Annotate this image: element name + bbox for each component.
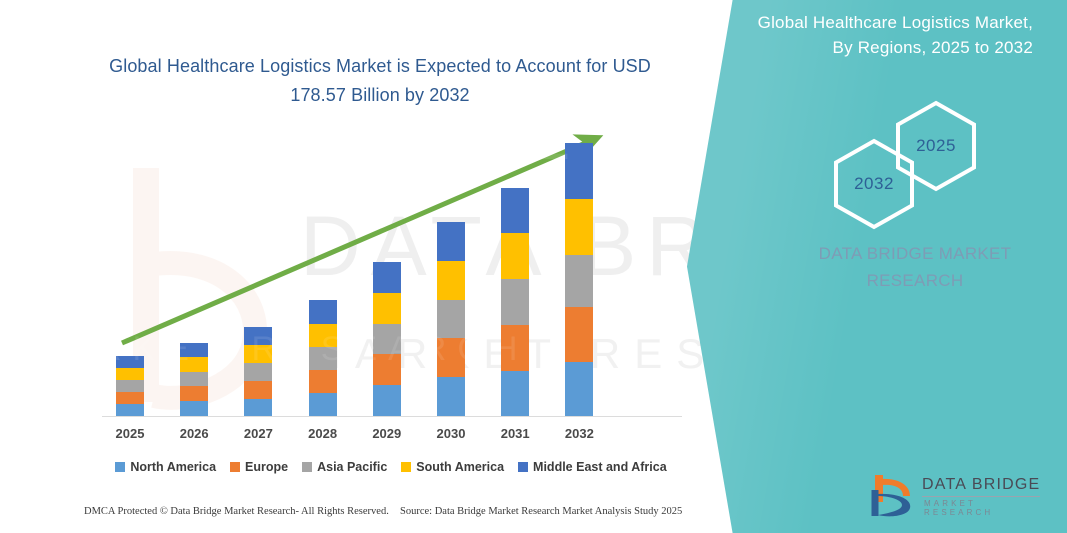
bar-segment[interactable] <box>501 279 529 325</box>
legend-label: Europe <box>245 460 288 474</box>
footer-source: Source: Data Bridge Market Research Mark… <box>400 506 682 517</box>
bar-segment[interactable] <box>565 307 593 362</box>
x-axis-label-2029: 2029 <box>357 426 417 441</box>
bar-segment[interactable] <box>373 262 401 293</box>
legend-item[interactable]: North America <box>115 460 216 474</box>
hexagon-label: 2025 <box>894 100 978 192</box>
legend-swatch-icon <box>401 462 411 472</box>
bar-segment[interactable] <box>373 385 401 416</box>
year-hexagon-badge-2025: 2025 <box>894 100 978 192</box>
bar-segment[interactable] <box>501 233 529 279</box>
bar-segment[interactable] <box>180 401 208 416</box>
bar-segment[interactable] <box>373 293 401 324</box>
bar-segment[interactable] <box>565 199 593 255</box>
bar-segment[interactable] <box>244 399 272 416</box>
bar-segment[interactable] <box>116 404 144 416</box>
brand-line-2: RESEARCH <box>795 267 1035 294</box>
legend-item[interactable]: Asia Pacific <box>302 460 387 474</box>
bar-segment[interactable] <box>180 372 208 386</box>
bar-2032[interactable] <box>565 143 593 416</box>
x-axis-label-2030: 2030 <box>421 426 481 441</box>
data-bridge-logo: DATA BRIDGE MARKET RESEARCH <box>870 472 1042 520</box>
legend-label: South America <box>416 460 504 474</box>
bar-segment[interactable] <box>437 222 465 261</box>
bar-segment[interactable] <box>437 261 465 300</box>
footer: DMCA Protected © Data Bridge Market Rese… <box>0 506 720 528</box>
legend-item[interactable]: Europe <box>230 460 288 474</box>
legend-label: North America <box>130 460 216 474</box>
bar-segment[interactable] <box>309 300 337 324</box>
bar-segment[interactable] <box>309 393 337 416</box>
bar-segment[interactable] <box>565 255 593 307</box>
bar-segment[interactable] <box>565 362 593 416</box>
logo-subtitle: MARKET RESEARCH <box>924 499 1042 517</box>
bar-2030[interactable] <box>437 222 465 416</box>
legend-label: Middle East and Africa <box>533 460 667 474</box>
legend-label: Asia Pacific <box>317 460 387 474</box>
legend-swatch-icon <box>230 462 240 472</box>
x-axis-label-2028: 2028 <box>293 426 353 441</box>
legend-swatch-icon <box>302 462 312 472</box>
x-axis-label-2032: 2032 <box>549 426 609 441</box>
x-axis-label-2026: 2026 <box>164 426 224 441</box>
logo-title: DATA BRIDGE <box>922 476 1040 497</box>
bar-segment[interactable] <box>437 377 465 416</box>
x-axis-line <box>102 416 682 417</box>
x-axis-label-2027: 2027 <box>228 426 288 441</box>
legend-swatch-icon <box>115 462 125 472</box>
bar-segment[interactable] <box>309 370 337 393</box>
x-axis-label-2025: 2025 <box>100 426 160 441</box>
panel-watermark-title: DATA BRIDGE <box>30 95 578 175</box>
brand-name: DATA BRIDGE MARKET RESEARCH <box>795 240 1035 294</box>
x-axis-labels: 20252026202720282029203020312032 <box>96 426 686 446</box>
legend-swatch-icon <box>518 462 528 472</box>
bar-segment[interactable] <box>180 386 208 401</box>
panel-heading: Global Healthcare Logistics Market, By R… <box>733 10 1033 60</box>
infographic-canvas: DATA BRIDGE MARKET RESEARCH Global Healt… <box>0 0 1067 533</box>
bar-segment[interactable] <box>116 380 144 392</box>
panel-watermark-subtitle: MARKET RESEARCH <box>24 330 528 369</box>
chart-legend: North AmericaEuropeAsia PacificSouth Ame… <box>96 460 686 474</box>
bar-segment[interactable] <box>501 188 529 233</box>
x-axis-label-2031: 2031 <box>485 426 545 441</box>
bar-2031[interactable] <box>501 188 529 416</box>
footer-copyright: DMCA Protected © Data Bridge Market Rese… <box>84 506 389 517</box>
legend-item[interactable]: Middle East and Africa <box>518 460 667 474</box>
bar-segment[interactable] <box>501 371 529 416</box>
legend-item[interactable]: South America <box>401 460 504 474</box>
bar-segment[interactable] <box>116 368 144 380</box>
bar-segment[interactable] <box>244 381 272 399</box>
bar-segment[interactable] <box>116 392 144 404</box>
data-bridge-mark-icon <box>870 472 918 518</box>
brand-line-1: DATA BRIDGE MARKET <box>795 240 1035 267</box>
